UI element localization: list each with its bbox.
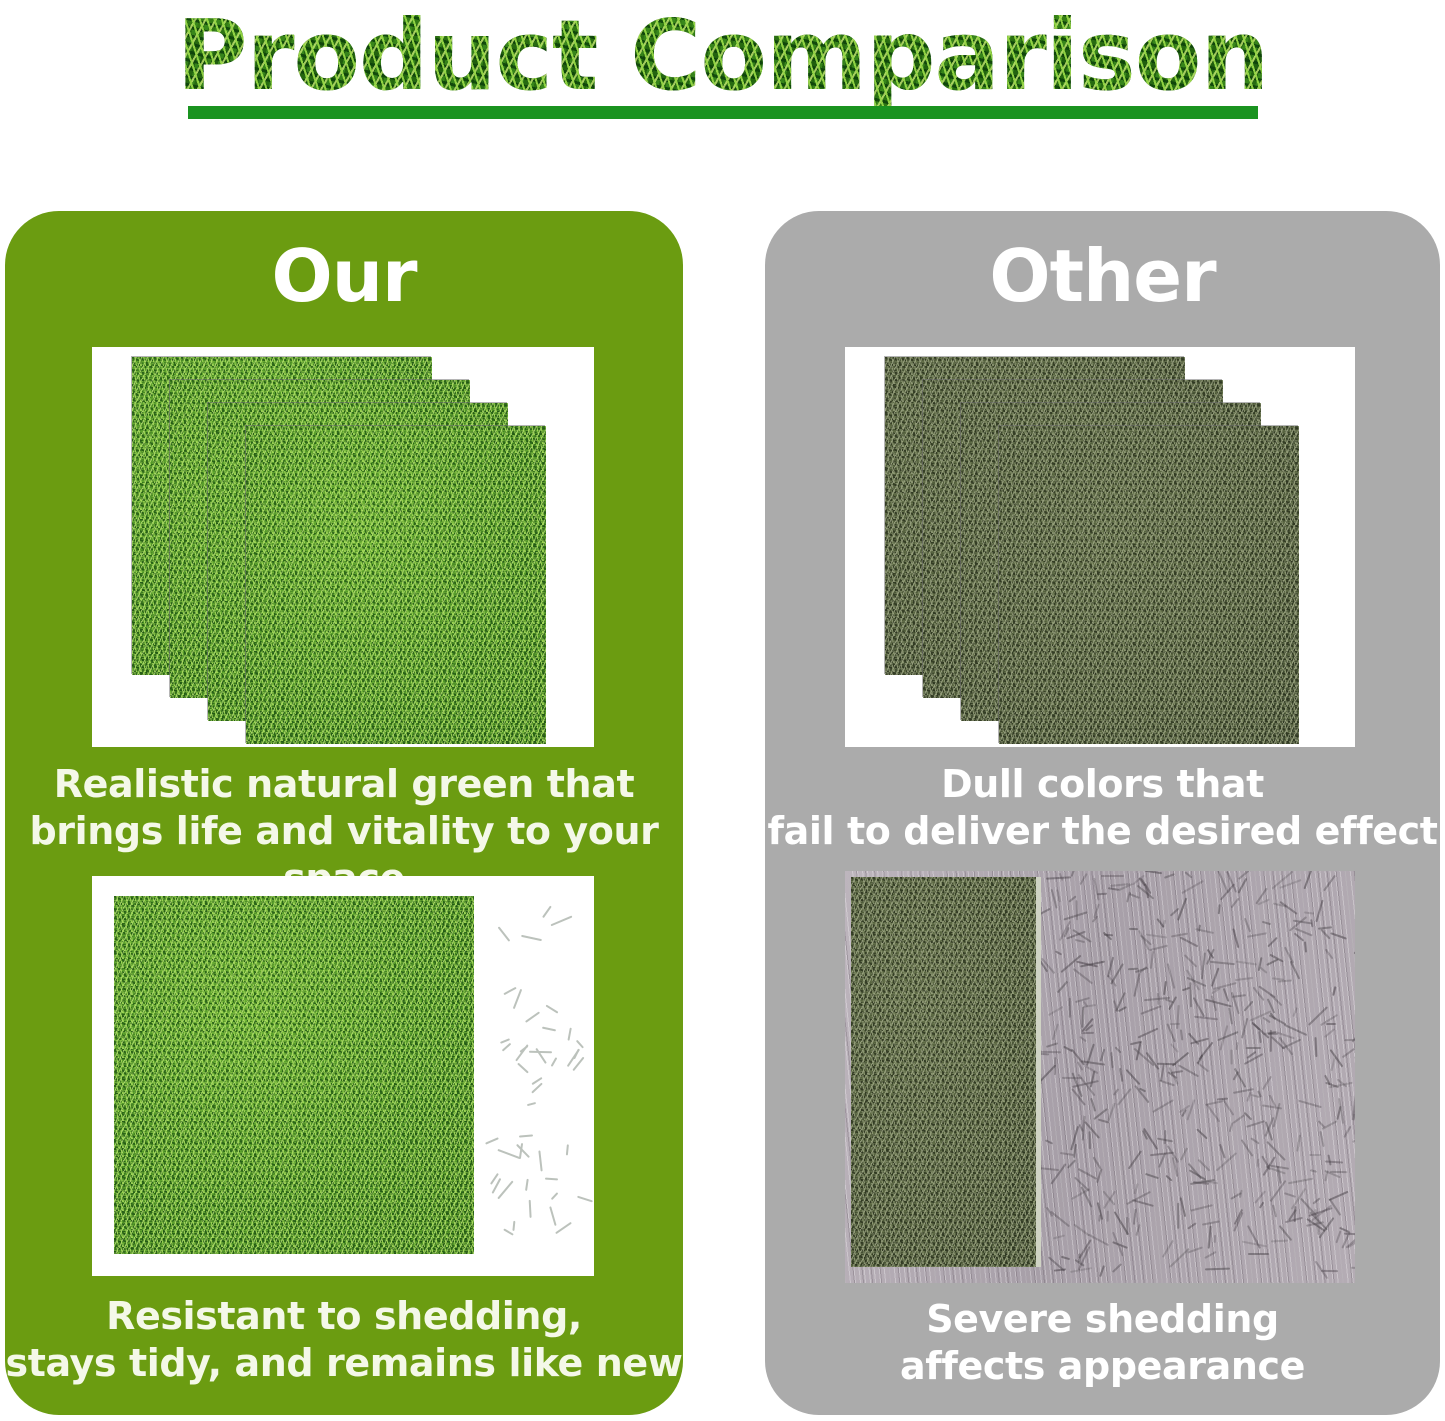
other-bottom-caption-line-1: Severe shedding <box>765 1296 1440 1343</box>
panel-other-heading: Other <box>765 233 1440 319</box>
ours-bottom-caption-line-2: stays tidy, and remains like new <box>5 1340 683 1387</box>
loose-fibers-group <box>482 906 592 1246</box>
title-underline-rule <box>188 106 1258 119</box>
other-bottom-caption: Severe shedding affects appearance <box>765 1296 1440 1390</box>
ours-grass-tiles-image-card <box>92 347 594 747</box>
dull-grass-mat-edge-icon <box>851 877 1041 1267</box>
stacked-grass-mats-vibrant-icon <box>92 347 594 747</box>
page-title: Product Comparison <box>176 4 1268 108</box>
ours-top-caption-line-1: Realistic natural green that <box>5 761 683 808</box>
other-top-caption: Dull colors that fail to deliver the des… <box>765 761 1440 855</box>
ours-shedding-image-card <box>92 876 594 1276</box>
other-shedding-image-card <box>845 871 1355 1283</box>
dull-grass-mat-4 <box>999 426 1299 744</box>
ours-bottom-caption: Resistant to shedding, stays tidy, and r… <box>5 1293 683 1387</box>
stacked-grass-mats-dull-icon <box>845 347 1355 747</box>
other-top-caption-line-1: Dull colors that <box>765 761 1440 808</box>
single-grass-mat-vibrant-icon <box>114 896 474 1254</box>
ours-bottom-caption-line-1: Resistant to shedding, <box>5 1293 683 1340</box>
other-top-caption-line-2: fail to deliver the desired effect <box>765 808 1440 855</box>
panel-ours-heading: Our <box>5 233 683 319</box>
panel-ours: Our Realistic natural green that brings … <box>5 211 683 1415</box>
infographic-canvas: Product Comparison Our Realistic natural… <box>0 0 1445 1421</box>
panel-other: Other Dull colors that fail to deliver t… <box>765 211 1440 1415</box>
other-bottom-caption-line-2: affects appearance <box>765 1343 1440 1390</box>
grass-mat-4 <box>246 426 546 744</box>
other-grass-tiles-image-card <box>845 347 1355 747</box>
